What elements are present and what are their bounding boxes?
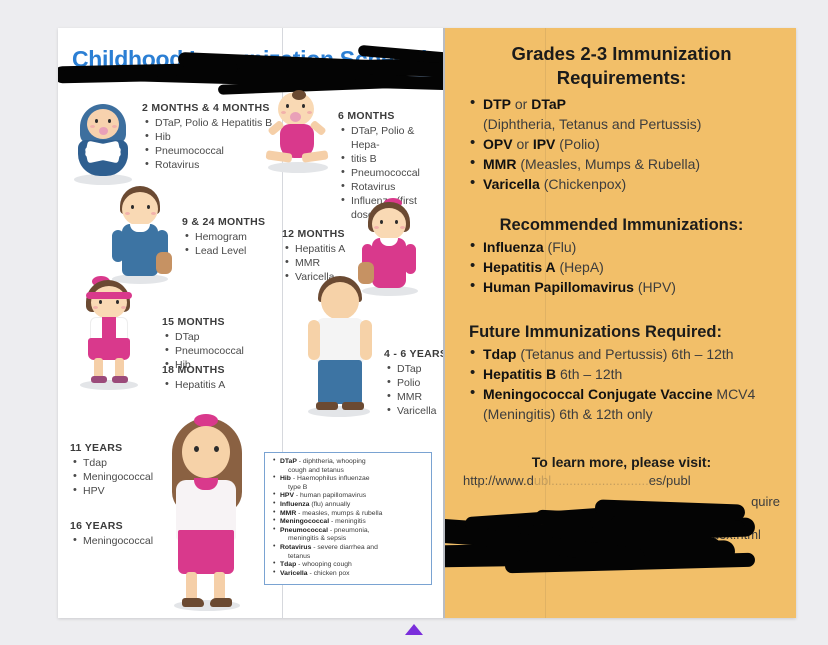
document-page: Childhood Immunization Schedule (58, 28, 796, 618)
glossary-definition: - meningitis (329, 518, 366, 525)
vaccine-name: Human Papillomavirus (483, 279, 634, 295)
vaccine-name-alt: DTaP (531, 96, 566, 112)
spacer (463, 297, 780, 323)
list-item: MMR (Measles, Mumps & Rubella) (483, 154, 780, 174)
glossary-item: Tdap - whooping cough (280, 561, 425, 570)
list-item: Pneumococcal (351, 166, 442, 180)
panel-heading-future: Future Immunizations Required: (463, 323, 780, 342)
glossary-definition: - chicken pox (308, 570, 350, 577)
glossary-item: Influenza (flu) annually (280, 501, 425, 510)
glossary-box: DTaP - diphtheria, whooping cough and te… (264, 452, 432, 585)
vaccine-name: Meningococcal Conjugate Vaccine (483, 386, 713, 402)
block-list: DTap Polio MMR Varicella (384, 362, 445, 418)
illustration-swaddled-baby (72, 100, 134, 186)
block-heading: 15 MONTHS (162, 316, 302, 328)
glossary-continuation: cough and tetanus (280, 467, 425, 476)
block-heading: 4 - 6 YEARS (384, 348, 445, 360)
glossary-continuation: type B (280, 484, 425, 493)
list-item: HPV (83, 484, 190, 498)
vaccine-note: (Measles, Mumps & Rubella) (516, 156, 700, 172)
glossary-definition: - severe diarrhea and (311, 544, 378, 551)
url-prefix: http://www.d (463, 473, 534, 488)
conjunction: or (513, 136, 533, 152)
illustration-girl-pink-dress (72, 276, 148, 392)
illustration-boy-older (300, 276, 378, 420)
required-immunizations-list-cont: OPV or IPV (Polio) MMR (Measles, Mumps &… (463, 134, 780, 194)
list-item: Meningococcal (83, 470, 190, 484)
list-item: Hepatitis A (HepA) (483, 257, 780, 277)
learn-more-heading: To learn more, please visit: (463, 454, 780, 470)
list-item: Pneumococcal (175, 344, 302, 358)
illustration-sitting-baby (262, 90, 334, 176)
vaccine-name: Varicella (483, 176, 540, 192)
glossary-definition: - diphtheria, whooping (297, 458, 366, 465)
glossary-definition: - measles, mumps & rubella (296, 510, 382, 517)
heading-line-1: Grades 2-3 Immunization (463, 42, 780, 66)
vaccine-name: Hepatitis B (483, 366, 556, 382)
list-item: Hepatitis A (175, 378, 302, 392)
glossary-term: HPV (280, 492, 294, 499)
block-heading: 12 MONTHS (282, 228, 392, 240)
required-immunizations-list: DTP or DTaP (463, 94, 780, 114)
glossary-definition: (flu) annually (309, 501, 350, 508)
glossary-definition: - Haemophilus influenzae (291, 475, 370, 482)
panel-heading-required: Grades 2-3 Immunization Requirements: (463, 42, 780, 90)
list-item: DTap (397, 362, 445, 376)
glossary-term: Tdap (280, 561, 296, 568)
glossary-continuation: meningitis & sepsis (280, 535, 425, 544)
glossary-term: Meningococcal (280, 518, 329, 525)
glossary-item: Hib - Haemophilus influenzae type B (280, 475, 425, 492)
glossary-list: DTaP - diphtheria, whooping cough and te… (271, 458, 425, 578)
list-item: Tdap (Tetanus and Pertussis) 6th – 12th (483, 344, 780, 364)
vaccine-name: Tdap (483, 346, 516, 362)
glossary-item: Meningococcal - meningitis (280, 518, 425, 527)
block-18-months: 18 MONTHS Hepatitis A (162, 364, 302, 392)
vaccine-note: (HPV) (634, 279, 676, 295)
list-item: Meningococcal Conjugate Vaccine MCV4 (483, 384, 780, 404)
glossary-term: Hib (280, 475, 291, 482)
vaccine-note: (Polio) (555, 136, 599, 152)
list-item: OPV or IPV (Polio) (483, 134, 780, 154)
url-suffix-1: es/publ (649, 473, 691, 488)
vaccine-note: MCV4 (713, 386, 756, 402)
glossary-term: Influenza (280, 501, 309, 508)
required-item-0-subtext: (Diphtheria, Tetanus and Pertussis) (463, 114, 780, 134)
redacted-url-line[interactable]: http://www.dubl.........................… (463, 470, 780, 491)
heading-line-2: Requirements: (463, 66, 780, 90)
list-item: Influenza (Flu) (483, 237, 780, 257)
glossary-term: Varicella (280, 570, 308, 577)
glossary-definition: - human papillomavirus (294, 492, 366, 499)
list-item: Meningococcal (83, 534, 190, 548)
vaccine-name: Influenza (483, 239, 544, 255)
list-item: Tdap (83, 456, 190, 470)
pointer-caret-icon (405, 624, 423, 635)
block-list: Meningococcal (70, 534, 190, 548)
vaccine-note: 6th – 12th (556, 366, 622, 382)
panel-heading-recommended: Recommended Immunizations: (463, 216, 780, 235)
vaccine-name: OPV (483, 136, 513, 152)
infographic-panel: Childhood Immunization Schedule (58, 28, 445, 618)
future-item-subtext: (Meningitis) 6th & 12th only (463, 404, 780, 424)
list-item: MMR (295, 256, 392, 270)
glossary-item: Rotavirus - severe diarrhea and tetanus (280, 544, 425, 561)
list-item: Polio (397, 376, 445, 390)
block-heading: 6 MONTHS (338, 110, 442, 122)
vaccine-name: DTP (483, 96, 511, 112)
glossary-item: HPV - human papillomavirus (280, 492, 425, 501)
spacer (463, 194, 780, 216)
glossary-term: MMR (280, 510, 296, 517)
list-item: Varicella (Chickenpox) (483, 174, 780, 194)
glossary-item: Varicella - chicken pox (280, 570, 425, 579)
vaccine-note: (Chickenpox) (540, 176, 626, 192)
list-item: Hepatitis A (295, 242, 392, 256)
url-suffix-2: quire (751, 494, 780, 509)
block-16-years: 16 YEARS Meningococcal (70, 520, 190, 548)
glossary-item: Pneumococcal - pneumonia, meningitis & s… (280, 527, 425, 544)
glossary-term: DTaP (280, 458, 297, 465)
vaccine-name: Hepatitis A (483, 259, 556, 275)
recommended-immunizations-list: Influenza (Flu) Hepatitis A (HepA) Human… (463, 237, 780, 297)
vaccine-note: (Flu) (544, 239, 577, 255)
vaccine-note: (HepA) (556, 259, 604, 275)
conjunction: or (511, 96, 531, 112)
future-immunizations-list: Tdap (Tetanus and Pertussis) 6th – 12th … (463, 344, 780, 404)
list-item: Hepatitis B 6th – 12th (483, 364, 780, 384)
block-list: Tdap Meningococcal HPV (70, 456, 190, 498)
list-item: Rotavirus (351, 180, 442, 194)
list-item: Human Papillomavirus (HPV) (483, 277, 780, 297)
list-item: DTaP, Polio & Hepa- (351, 124, 442, 152)
vaccine-name: MMR (483, 156, 516, 172)
glossary-term: Rotavirus (280, 544, 311, 551)
list-item: MMR (397, 390, 445, 404)
glossary-definition: - pneumonia, (328, 527, 370, 534)
list-item: DTP or DTaP (483, 94, 780, 114)
glossary-continuation: tetanus (280, 553, 425, 562)
requirements-panel: Grades 2-3 Immunization Requirements: DT… (445, 28, 796, 618)
illustration-toddler-boy (104, 186, 176, 286)
list-item: Varicella (397, 404, 445, 418)
block-heading: 11 YEARS (70, 442, 190, 454)
vaccine-name-alt: IPV (533, 136, 556, 152)
block-heading: 16 YEARS (70, 520, 190, 532)
block-heading: 9 & 24 MONTHS (182, 216, 312, 228)
glossary-item: DTaP - diphtheria, whooping cough and te… (280, 458, 425, 475)
block-heading: 18 MONTHS (162, 364, 302, 376)
vaccine-note: (Tetanus and Pertussis) 6th – 12th (516, 346, 733, 362)
glossary-term: Pneumococcal (280, 527, 328, 534)
block-4-6-years: 4 - 6 YEARS DTap Polio MMR Varicella (384, 348, 445, 418)
block-list: Hepatitis A (162, 378, 302, 392)
block-11-years: 11 YEARS Tdap Meningococcal HPV (70, 442, 190, 498)
list-item: DTap (175, 330, 302, 344)
list-item-continuation: titis B (351, 152, 442, 166)
glossary-item: MMR - measles, mumps & rubella (280, 510, 425, 519)
glossary-definition: - whooping cough (296, 561, 352, 568)
spacer (463, 424, 780, 454)
